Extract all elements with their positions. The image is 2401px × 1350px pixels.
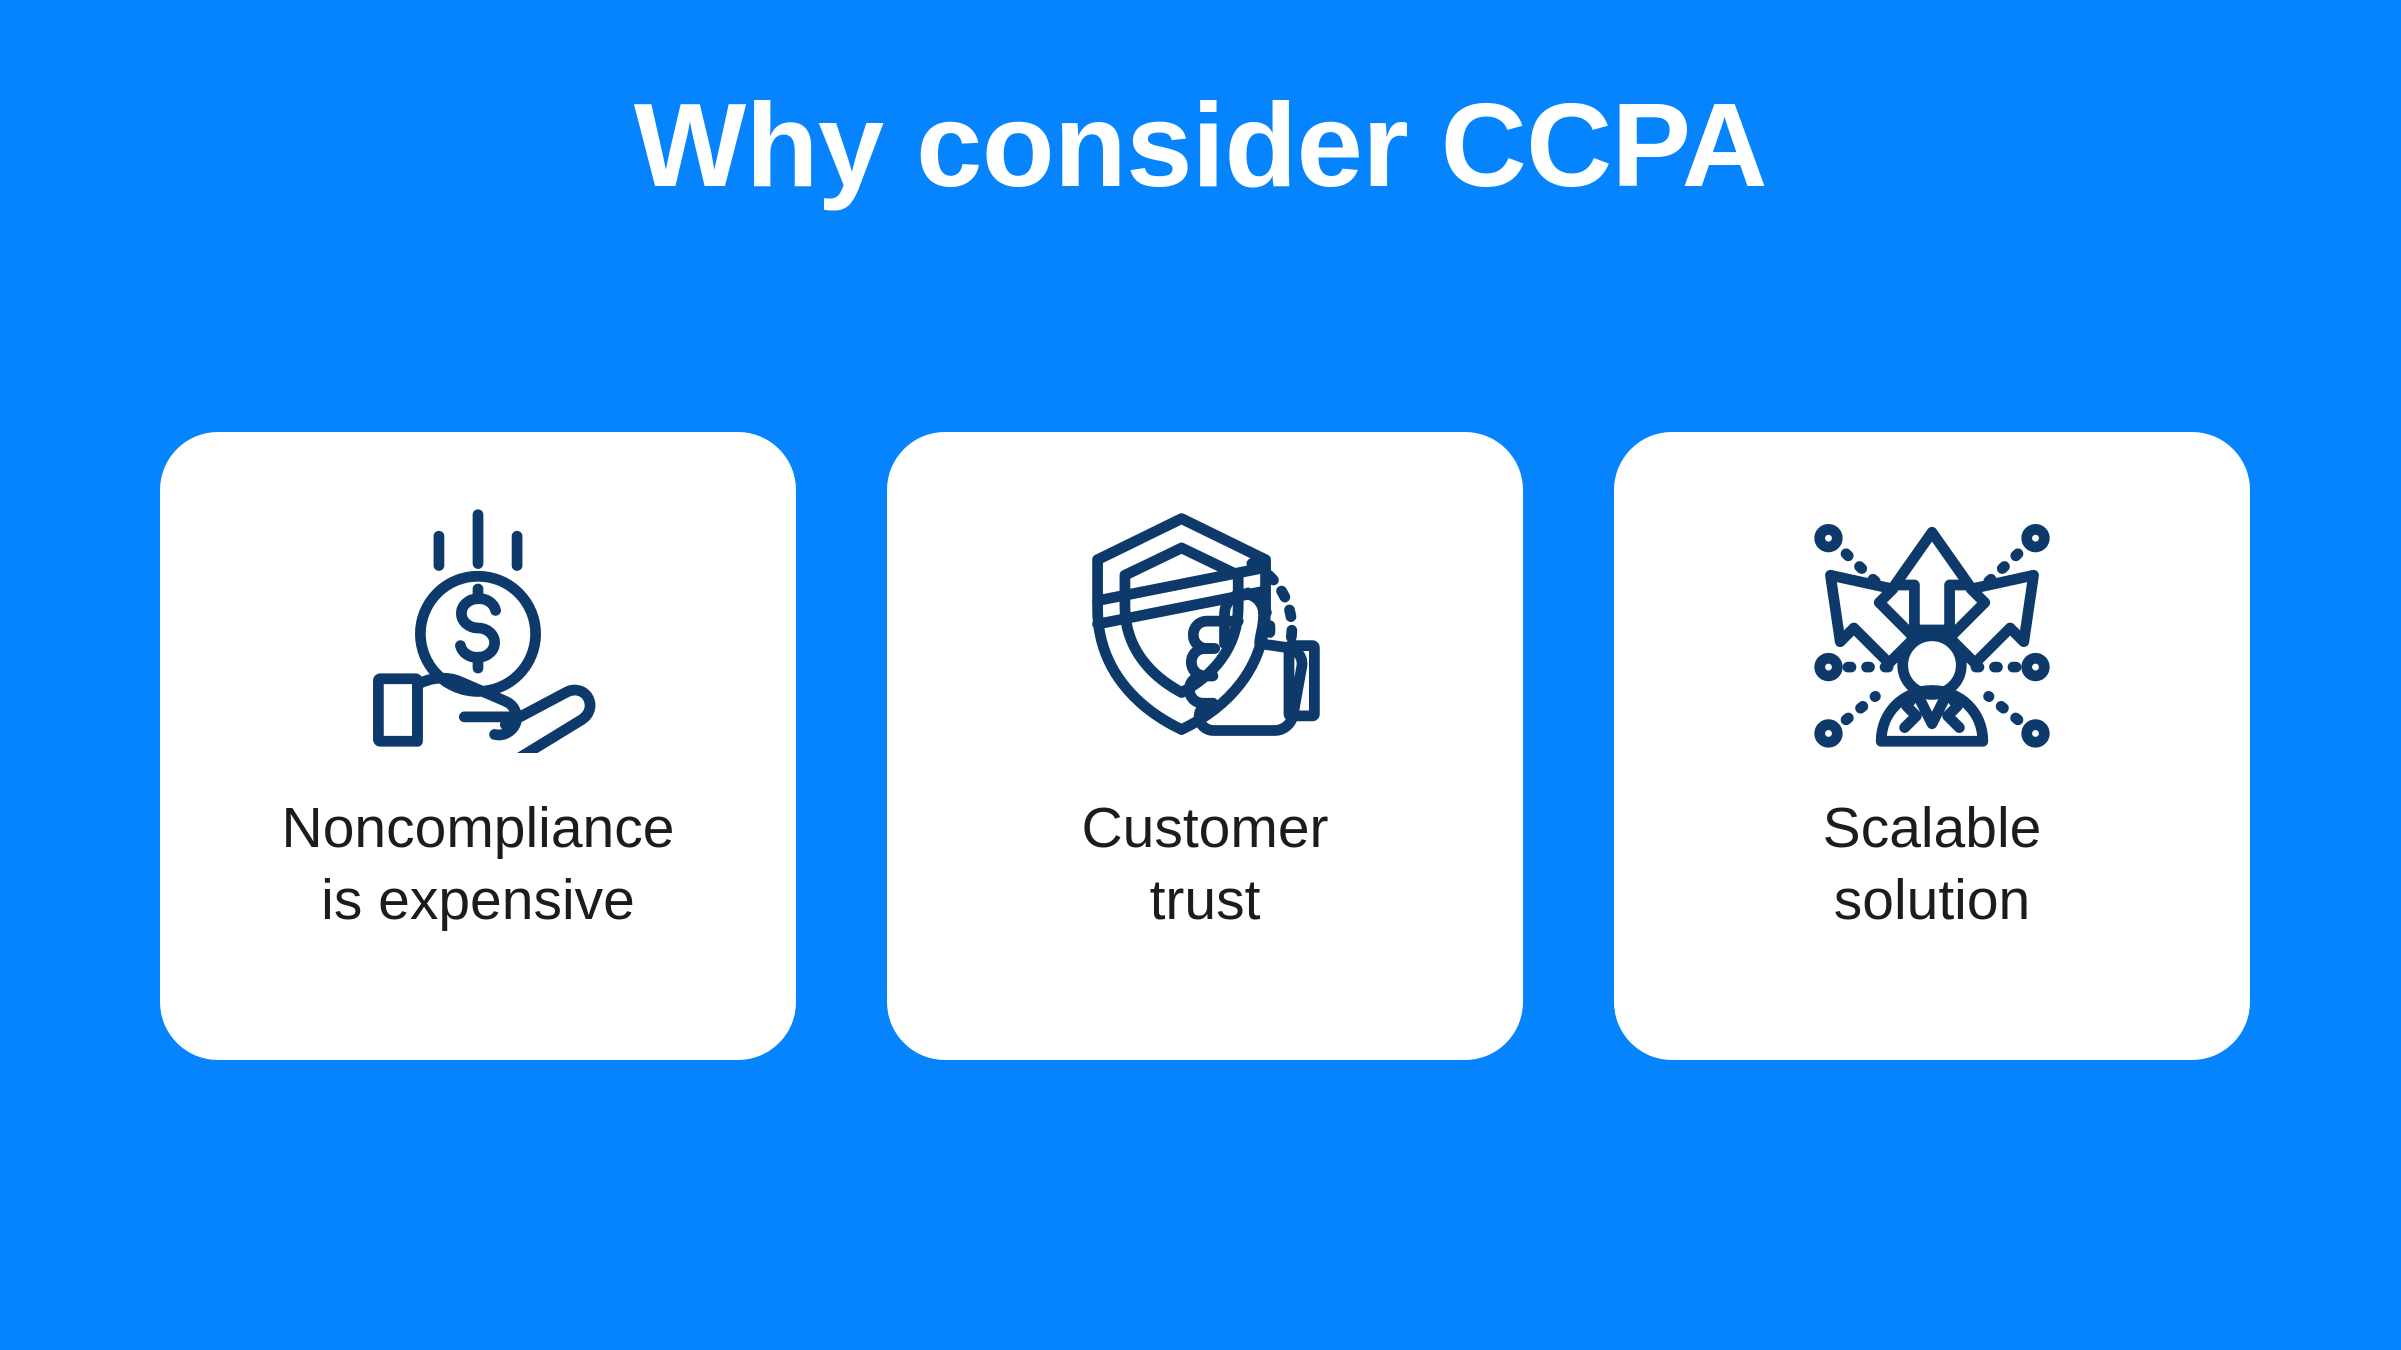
benefit-card-label: Noncompliance is expensive <box>198 792 758 936</box>
benefit-card-noncompliance[interactable]: Noncompliance is expensive <box>160 432 796 1060</box>
shield-thumbs-up-icon <box>1075 498 1335 758</box>
slide-root: Why consider CCPA <box>0 0 2401 1350</box>
page-title: Why consider CCPA <box>0 78 2401 215</box>
benefit-card-label: Customer trust <box>925 792 1485 936</box>
benefit-cards-row: Noncompliance is expensive <box>160 432 2250 1060</box>
benefit-card-customer-trust[interactable]: Customer trust <box>887 432 1523 1060</box>
benefit-card-label: Scalable solution <box>1652 792 2212 936</box>
hand-holding-dollar-coin-icon <box>348 498 608 758</box>
benefit-card-scalable-solution[interactable]: Scalable solution <box>1614 432 2250 1060</box>
person-multiple-arrows-icon <box>1802 498 2062 758</box>
